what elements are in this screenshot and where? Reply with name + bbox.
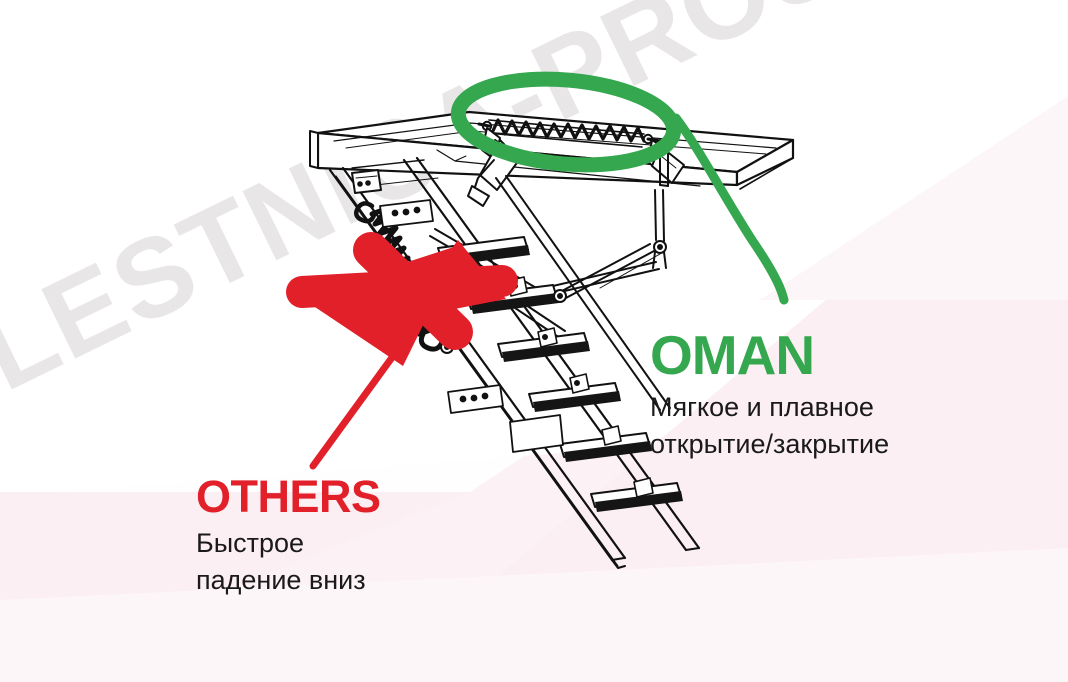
infographic-canvas: LESTNICA-PROSTO.RU	[0, 0, 1068, 682]
pivot-plate-upper	[380, 200, 433, 227]
others-subtitle-line2: падение вниз	[196, 562, 526, 599]
others-callout: OTHERS Быстрое падение вниз	[196, 474, 526, 600]
others-subtitle-line1: Быстрое	[196, 525, 526, 562]
red-annotation	[300, 240, 506, 466]
oman-title: OMAN	[650, 328, 980, 383]
hatch-box-frame	[310, 112, 793, 189]
red-pointer-line	[313, 352, 396, 466]
oman-subtitle-line1: Мягкое и плавное	[650, 389, 980, 426]
oman-subtitle-line2: открытие/закрытие	[650, 426, 980, 463]
oman-callout: OMAN Мягкое и плавное открытие/закрытие	[650, 328, 980, 464]
others-title: OTHERS	[196, 474, 526, 519]
